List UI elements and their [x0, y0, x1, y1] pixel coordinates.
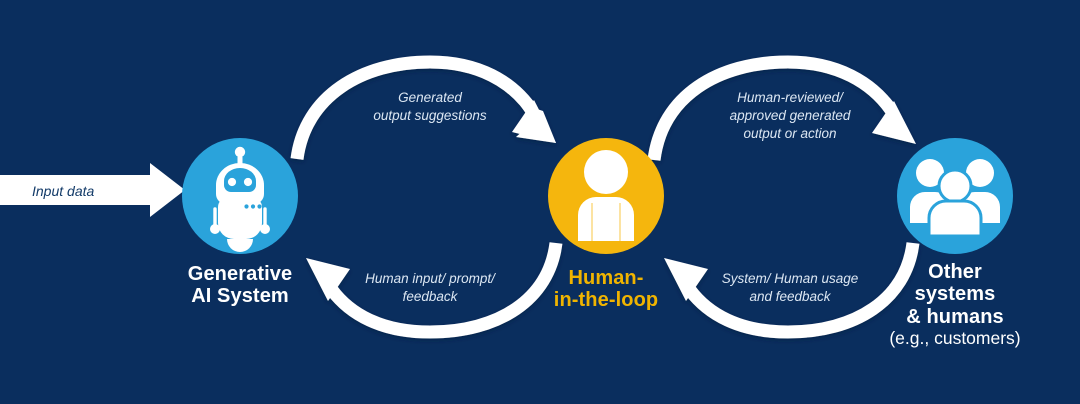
node-other-systems-humans[interactable] [897, 138, 1013, 254]
node-label-line-2: AI System [191, 285, 289, 307]
flow-line-3: output or action [743, 126, 836, 141]
flow-line-1: Human input/ prompt/ [365, 271, 495, 286]
flow-line-1: Human-reviewed/ [737, 90, 843, 105]
flow-line-2: output suggestions [373, 108, 486, 123]
input-data-label: Input data [32, 183, 94, 199]
node-label-line-2: systems [915, 283, 996, 305]
node-label-line-3: & humans [906, 306, 1003, 328]
flow-label-generated-output-suggestions: Generated output suggestions [350, 89, 510, 125]
flow-label-human-reviewed-approved: Human-reviewed/ approved generated outpu… [700, 89, 880, 142]
node-label-generative-ai-system: Generative AI System [150, 263, 330, 308]
node-label-other-systems-humans: Other systems & humans (e.g., customers) [865, 261, 1045, 349]
node-label-line-1: Human- [568, 267, 643, 289]
flow-label-human-input-prompt-feedback: Human input/ prompt/ feedback [340, 270, 520, 306]
node-label-line-2: in-the-loop [554, 289, 658, 311]
flow-line-2: approved generated [730, 108, 851, 123]
node-label-line-1: Generative [188, 263, 292, 285]
node-label-sub: (e.g., customers) [865, 329, 1045, 349]
node-label-human-in-the-loop: Human- in-the-loop [516, 267, 696, 312]
flow-line-1: System/ Human usage [722, 271, 859, 286]
flow-line-2: feedback [403, 289, 458, 304]
flow-label-system-human-usage-feedback: System/ Human usage and feedback [700, 270, 880, 306]
diagram-canvas: Input data Generated output suggestions … [0, 0, 1080, 404]
flow-line-1: Generated [398, 90, 462, 105]
node-human-in-the-loop[interactable] [548, 138, 664, 254]
node-generative-ai-system[interactable] [182, 138, 298, 254]
node-label-line-1: Other [928, 261, 982, 283]
flow-line-2: and feedback [749, 289, 830, 304]
